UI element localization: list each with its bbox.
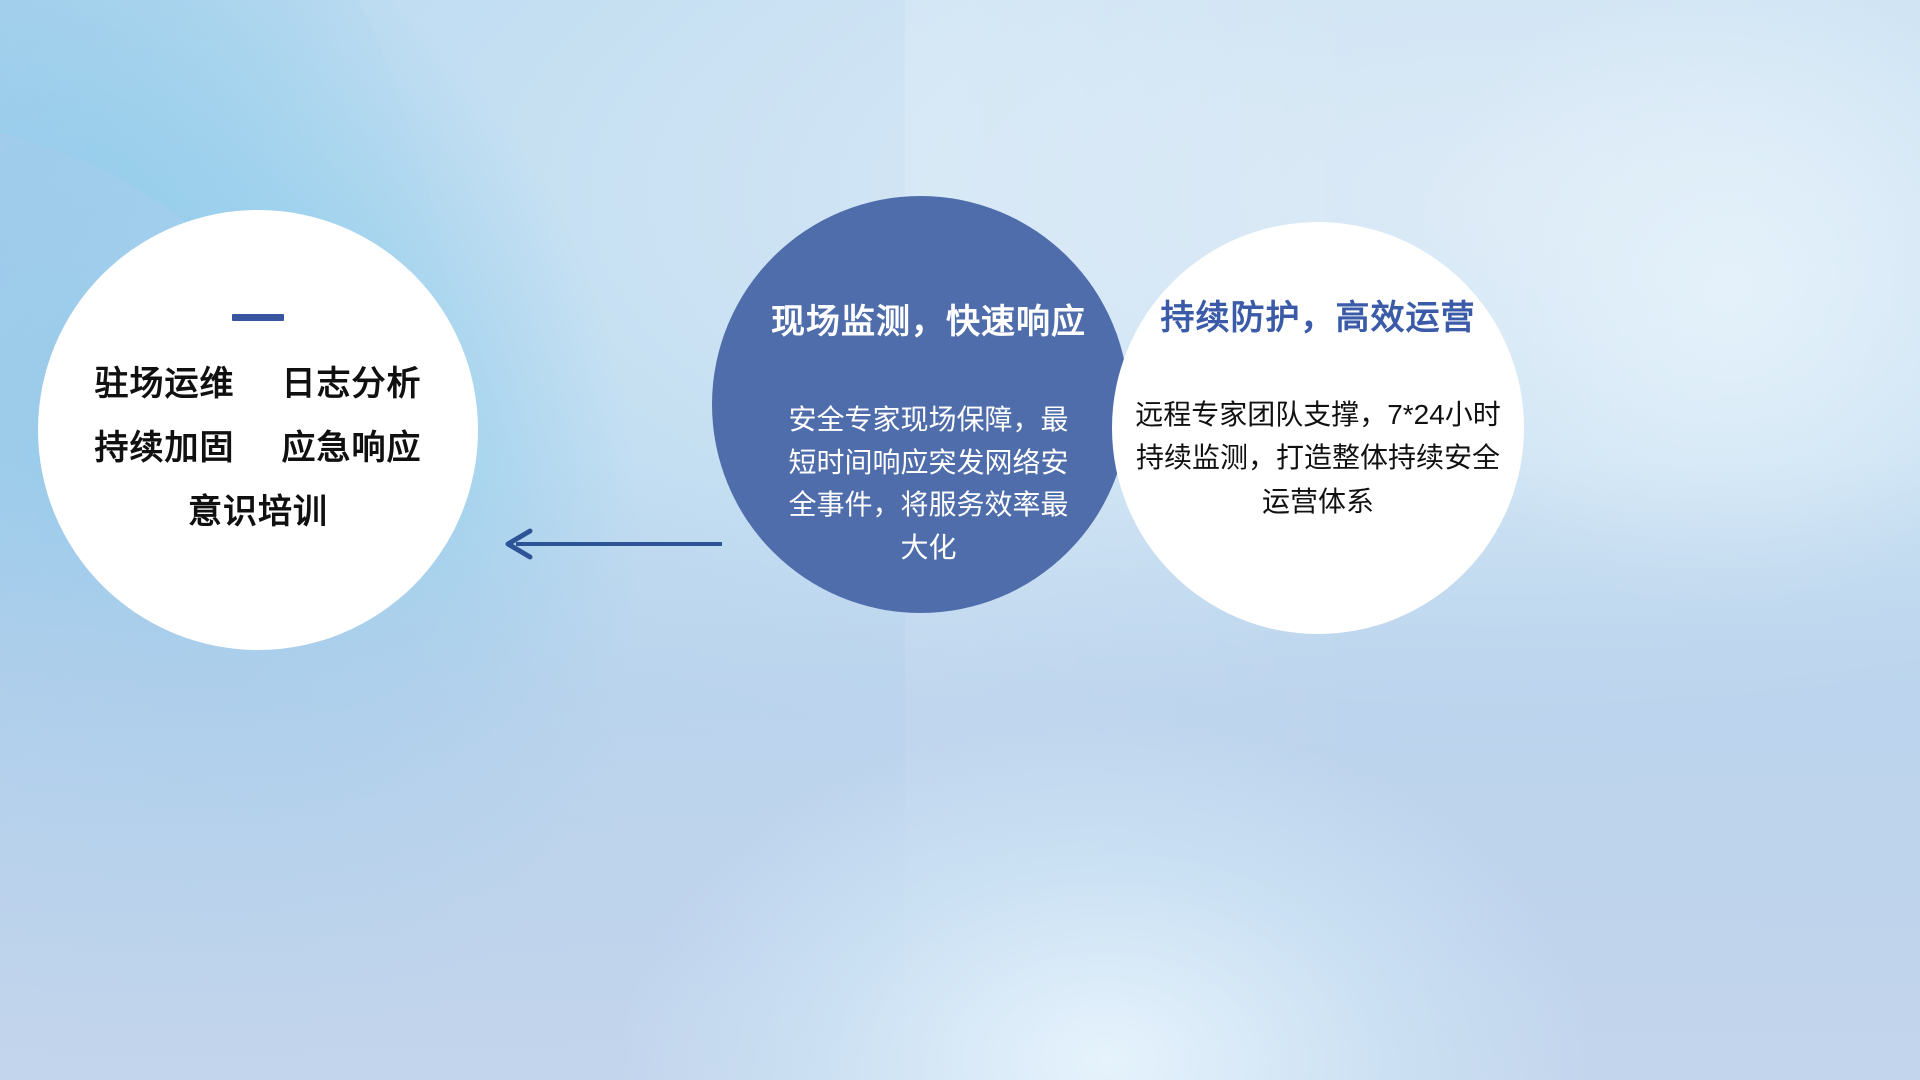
onsite-monitoring-body: 安全专家现场保障，最短时间响应突发网络安全事件，将服务效率最大化 <box>779 399 1079 569</box>
left-arrow-icon <box>494 524 724 564</box>
dash-divider-icon <box>232 314 284 321</box>
capability-item: 驻场运维 <box>95 365 235 403</box>
continuous-protection-circle[interactable]: 持续防护，高效运营 远程专家团队支撑，7*24小时持续监测，打造整体持续安全运营… <box>1112 222 1524 634</box>
capability-item: 意识培训 <box>188 493 328 531</box>
capability-item: 日志分析 <box>281 365 421 403</box>
onsite-monitoring-circle[interactable]: 现场监测，快速响应 安全专家现场保障，最短时间响应突发网络安全事件，将服务效率最… <box>712 196 1129 613</box>
capability-row: 驻场运维 日志分析 <box>38 367 478 401</box>
capability-item: 持续加固 <box>95 429 235 467</box>
capability-row: 意识培训 <box>38 495 478 529</box>
onsite-monitoring-title: 现场监测，快速响应 <box>722 294 1135 343</box>
capability-row: 持续加固 应急响应 <box>38 431 478 465</box>
capability-item: 应急响应 <box>281 429 421 467</box>
capability-list-content: 驻场运维 日志分析 持续加固 应急响应 意识培训 <box>38 314 478 529</box>
slide-canvas: 现场监测，快速响应 安全专家现场保障，最短时间响应突发网络安全事件，将服务效率最… <box>0 0 1920 1080</box>
continuous-protection-body: 远程专家团队支撑，7*24小时持续监测，打造整体持续安全运营体系 <box>1132 393 1504 523</box>
onsite-monitoring-content: 现场监测，快速响应 安全专家现场保障，最短时间响应突发网络安全事件，将服务效率最… <box>722 294 1135 569</box>
capability-list-circle[interactable]: 驻场运维 日志分析 持续加固 应急响应 意识培训 <box>38 210 478 650</box>
continuous-protection-title: 持续防护，高效运营 <box>1112 290 1524 339</box>
continuous-protection-content: 持续防护，高效运营 远程专家团队支撑，7*24小时持续监测，打造整体持续安全运营… <box>1112 290 1524 523</box>
